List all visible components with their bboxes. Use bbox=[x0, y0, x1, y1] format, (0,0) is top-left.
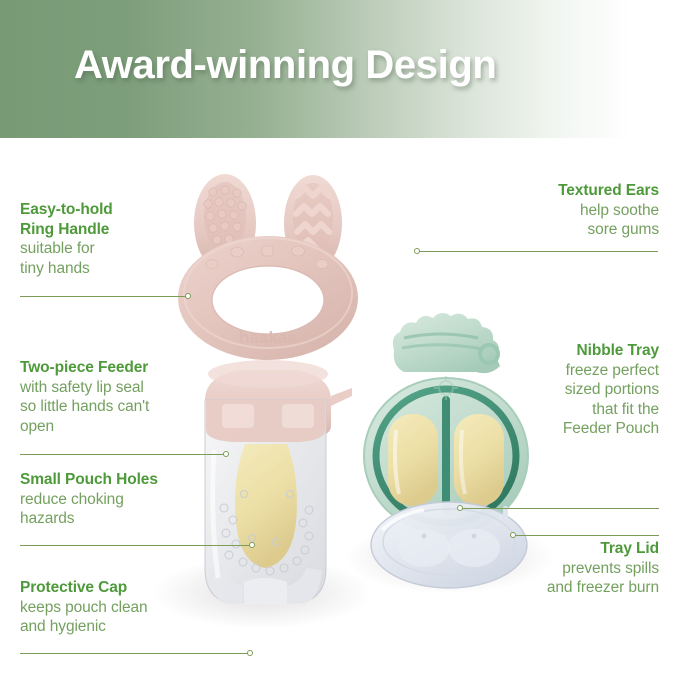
callout-title-line: Protective Cap bbox=[20, 578, 148, 598]
connector-dot-textured-ears bbox=[414, 248, 420, 254]
callout-title-line: Small Pouch Holes bbox=[20, 470, 158, 490]
callout-body: keeps pouch clean and hygienic bbox=[20, 598, 148, 637]
callout-body-line: open bbox=[20, 417, 149, 437]
callout-body: freeze perfect sized portions that fit t… bbox=[409, 361, 659, 439]
callout-body: suitable for tiny hands bbox=[20, 239, 113, 278]
callout-title: Protective Cap bbox=[20, 578, 148, 598]
header-banner: Award-winning Design bbox=[0, 0, 679, 138]
callout-title-line: Textured Ears bbox=[409, 181, 659, 201]
callout-body-line: prevents spills bbox=[409, 559, 659, 579]
callout-title: Two-piece Feeder bbox=[20, 358, 149, 378]
callout-body-line: and freezer burn bbox=[409, 578, 659, 598]
connector-dot-two-piece-feeder bbox=[223, 451, 229, 457]
infographic-page: Award-winning Design bbox=[0, 0, 679, 679]
connector-line-textured-ears bbox=[418, 251, 658, 252]
callout-title: Textured Ears bbox=[409, 181, 659, 201]
callout-body-line: suitable for bbox=[20, 239, 113, 259]
connector-dot-ring-handle bbox=[185, 293, 191, 299]
callout-body-line: tiny hands bbox=[20, 259, 113, 279]
callout-body-line: sized portions bbox=[409, 380, 659, 400]
callout-body-line: with safety lip seal bbox=[20, 378, 149, 398]
connector-dot-pouch-holes bbox=[249, 542, 255, 548]
connector-line-nibble-tray bbox=[461, 508, 659, 509]
callout-title-line: Ring Handle bbox=[20, 220, 113, 240]
callout-tray-lid: Tray Lid prevents spills and freezer bur… bbox=[409, 539, 659, 598]
connector-dot-protective-cap bbox=[247, 650, 253, 656]
page-title: Award-winning Design bbox=[74, 43, 496, 88]
callout-title: Tray Lid bbox=[409, 539, 659, 559]
callout-title: Nibble Tray bbox=[409, 341, 659, 361]
callout-title-line: Nibble Tray bbox=[409, 341, 659, 361]
callout-body-line: keeps pouch clean bbox=[20, 598, 148, 618]
connector-line-two-piece-feeder bbox=[20, 454, 226, 455]
callout-body-line: and hygienic bbox=[20, 617, 148, 637]
callout-body-line: reduce choking bbox=[20, 490, 158, 510]
callout-nibble-tray: Nibble Tray freeze perfect sized portion… bbox=[409, 341, 659, 439]
callout-body-line: sore gums bbox=[409, 220, 659, 240]
callout-title-line: Tray Lid bbox=[409, 539, 659, 559]
ring-handle: haakaa bbox=[178, 236, 358, 360]
callout-body-line: hazards bbox=[20, 509, 158, 529]
callout-easy-to-hold-ring-handle: Easy-to-hold Ring Handle suitable for ti… bbox=[20, 200, 113, 278]
connector-line-ring-handle bbox=[20, 296, 188, 297]
connector-dot-nibble-tray bbox=[457, 505, 463, 511]
feeder-pouch-body bbox=[205, 400, 326, 604]
callout-body-line: freeze perfect bbox=[409, 361, 659, 381]
callout-title: Small Pouch Holes bbox=[20, 470, 158, 490]
callout-title-line: Easy-to-hold bbox=[20, 200, 113, 220]
connector-line-pouch-holes bbox=[20, 545, 252, 546]
callout-protective-cap: Protective Cap keeps pouch clean and hyg… bbox=[20, 578, 148, 637]
callout-title: Easy-to-hold Ring Handle bbox=[20, 200, 113, 239]
callout-body-line: so little hands can't bbox=[20, 397, 149, 417]
connector-line-tray-lid bbox=[514, 535, 659, 536]
callout-body-line: that fit the bbox=[409, 400, 659, 420]
callout-body: prevents spills and freezer burn bbox=[409, 559, 659, 598]
callout-body: help soothe sore gums bbox=[409, 201, 659, 240]
callout-two-piece-feeder: Two-piece Feeder with safety lip seal so… bbox=[20, 358, 149, 436]
teether-feeder-graphic: haakaa bbox=[178, 174, 358, 604]
connector-dot-tray-lid bbox=[510, 532, 516, 538]
callout-body-line: Feeder Pouch bbox=[409, 419, 659, 439]
callout-title-line: Two-piece Feeder bbox=[20, 358, 149, 378]
callout-textured-ears: Textured Ears help soothe sore gums bbox=[409, 181, 659, 240]
callout-body: with safety lip seal so little hands can… bbox=[20, 378, 149, 437]
connector-line-protective-cap bbox=[20, 653, 250, 654]
brand-mark: haakaa bbox=[239, 328, 297, 347]
callout-body: reduce choking hazards bbox=[20, 490, 158, 529]
callout-body-line: help soothe bbox=[409, 201, 659, 221]
callout-small-pouch-holes: Small Pouch Holes reduce choking hazards bbox=[20, 470, 158, 529]
